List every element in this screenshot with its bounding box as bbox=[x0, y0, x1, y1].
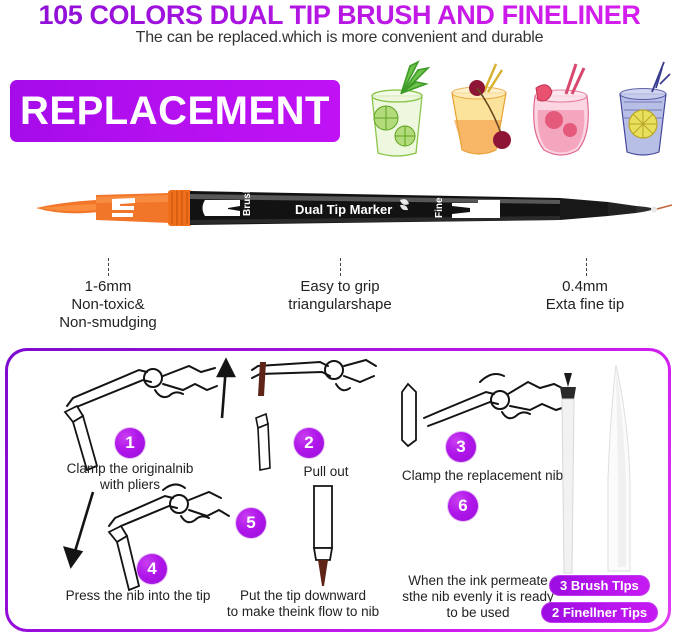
down-arrow-icon bbox=[65, 492, 93, 566]
step-badge: 3 bbox=[446, 432, 476, 462]
strawberry-pink-drink-icon bbox=[522, 58, 600, 163]
infographic-page: 105 COLORS DUAL TIP BRUSH AND FINELINER … bbox=[0, 0, 679, 638]
step-5: 5 Put the tip downward to make theink fl… bbox=[208, 486, 388, 591]
step-caption: Put the tip downward to make theink flow… bbox=[198, 588, 408, 620]
extracted-nib-icon bbox=[258, 362, 266, 396]
callout-line: 1-6mm bbox=[18, 278, 198, 296]
marker-body-icon bbox=[109, 526, 139, 590]
blue-lemon-drink-icon bbox=[604, 58, 679, 163]
page-title: 105 COLORS DUAL TIP BRUSH AND FINELINER bbox=[0, 0, 679, 30]
step-caption: Pull out bbox=[266, 464, 386, 480]
up-arrow-icon bbox=[218, 360, 234, 418]
drink-illustrations bbox=[358, 58, 676, 163]
step-badge: 4 bbox=[137, 554, 167, 584]
step-badge: 5 bbox=[236, 508, 266, 538]
fine-tip-callout: 0.4mm Exta fine tip bbox=[500, 278, 670, 314]
fineliner-tips-badge: 2 Finellner Tips bbox=[541, 602, 658, 623]
large-nib-illustrations bbox=[538, 359, 658, 599]
callout-line: Easy to grip bbox=[250, 278, 430, 296]
callout-line: triangularshape bbox=[250, 296, 430, 314]
pen-fine-label: Fine bbox=[434, 197, 445, 218]
callout-line: Non-toxic& bbox=[18, 296, 198, 314]
brush-tip-callout: 1-6mm Non-toxic& Non-smudging bbox=[18, 278, 198, 332]
replacement-nib-icon bbox=[402, 384, 416, 446]
step-badge: 1 bbox=[115, 428, 145, 458]
pen-brush-label: Brush bbox=[242, 187, 253, 216]
callout-line: Exta fine tip bbox=[500, 296, 670, 314]
pliers-icon bbox=[252, 360, 376, 390]
page-subtitle: The can be replaced.which is more conven… bbox=[0, 29, 679, 47]
orange-cherry-drink-icon bbox=[440, 58, 518, 163]
step-1: 1 Clamp the originalnib with pliers bbox=[43, 356, 223, 471]
dual-tip-marker-illustration: Brush Dual Tip Marker Fine bbox=[0, 178, 679, 253]
mojito-lime-drink-icon bbox=[358, 58, 436, 163]
pliers-icon bbox=[67, 366, 217, 412]
marker-downward-icon bbox=[314, 486, 332, 586]
fineliner-nib-icon bbox=[560, 373, 576, 573]
grip-callout: Easy to grip triangularshape bbox=[250, 278, 430, 314]
replacement-banner-label: REPLACEMENT bbox=[20, 91, 330, 131]
marker-body-icon bbox=[256, 414, 270, 470]
brush-nib-icon bbox=[608, 365, 630, 571]
callout-line: 0.4mm bbox=[500, 278, 670, 296]
callout-line: Non-smudging bbox=[18, 314, 198, 332]
brush-tips-badge: 3 Brush TIps bbox=[549, 575, 650, 596]
pen-callouts: 1-6mm Non-toxic& Non-smudging Easy to gr… bbox=[0, 258, 679, 336]
replacement-instructions-panel: 1 Clamp the originalnib with pliers bbox=[5, 348, 671, 632]
step-badge: 2 bbox=[294, 428, 324, 458]
step-4: 4 Press the nib into the tip bbox=[43, 486, 233, 591]
replacement-banner: REPLACEMENT bbox=[10, 80, 340, 142]
pen-brand-label: Dual Tip Marker bbox=[295, 202, 392, 217]
step-badge: 6 bbox=[448, 491, 478, 521]
step-2: 2 Pull out bbox=[208, 356, 378, 471]
